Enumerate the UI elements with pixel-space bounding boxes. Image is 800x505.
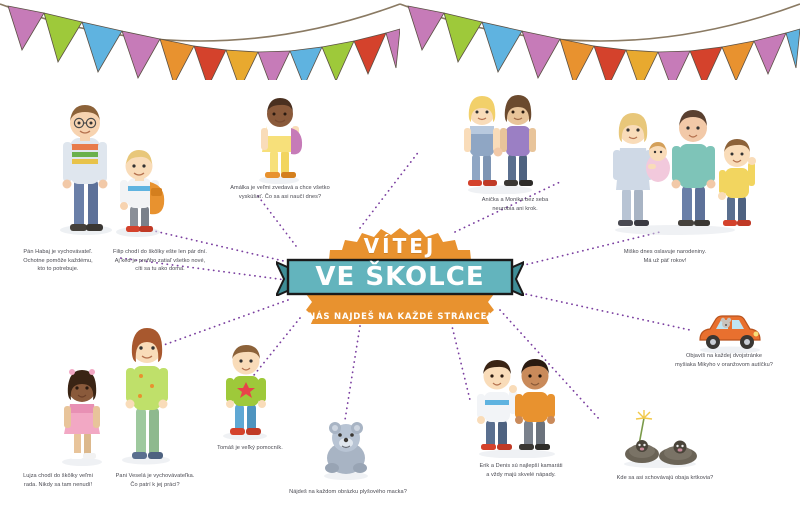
scene-miky-auto xyxy=(690,308,770,354)
caption-line: Aj keď je preňho zatiaľ všetko nové, xyxy=(108,257,212,266)
caption-line: rada. Nikdy sa tam nenudí! xyxy=(10,481,106,490)
caption-pani-vesela: Pani Veselá je vychovávateľka. Čo patrí … xyxy=(103,472,207,489)
bunting-garland-right xyxy=(400,0,800,80)
caption-line: Filip chodí do škôlky ešte len pár dní. xyxy=(108,248,212,257)
book-spread-page: Pán Habaj je vychovávateľ. Ochotne pomôž… xyxy=(0,0,800,505)
caption-line: Anička a Monika bez seba xyxy=(455,196,575,205)
caption-krtkovia: Kde sa asi schovávajú obaja krtkovia? xyxy=(598,474,732,483)
scene-pani-vesela xyxy=(110,308,182,466)
caption-line: Miško dnes oslavuje narodeniny. xyxy=(600,248,730,257)
caption-misko: Miško dnes oslavuje narodeniny. Má už pä… xyxy=(600,248,730,265)
caption-plysovy-macko: Nájdeš na každom obrázku plyšového macka… xyxy=(268,488,428,497)
scene-plysovy-macko xyxy=(315,418,377,480)
caption-line: Tomáš je veľký pomocník. xyxy=(192,444,308,453)
caption-line: vyskúšať. Čo sa asi naučí dnes? xyxy=(210,193,350,202)
badge-tagline: NÁS NAJDEŠ NA KAŽDÉ STRÁNCE! xyxy=(286,312,514,322)
caption-erik-denis: Erik a Denis sú najlepší kamaráti a vždy… xyxy=(452,462,590,479)
scene-erik-denis xyxy=(462,348,572,458)
badge-title-line1: VÍTEJ xyxy=(286,234,514,258)
caption-line: cíti sa tu ako doma. xyxy=(108,265,212,274)
scene-amalka xyxy=(245,92,315,184)
caption-line: Ochotne pomôže každému, xyxy=(6,257,110,266)
caption-line: Amálka je veľmi zvedavá a chce všetko xyxy=(210,184,350,193)
bunting-garland-left xyxy=(0,0,400,80)
scene-tomas xyxy=(212,338,278,440)
caption-anicka-monika: Anička a Monika bez seba neurobia ani kr… xyxy=(455,196,575,213)
scene-lujza xyxy=(52,358,112,466)
caption-line: Erik a Denis sú najlepší kamaráti xyxy=(452,462,590,471)
caption-lujza: Lujza chodí do škôlky veľmi rada. Nikdy … xyxy=(10,472,106,489)
scene-misko-family xyxy=(600,88,760,238)
caption-line: Lujza chodí do škôlky veľmi xyxy=(10,472,106,481)
caption-filip: Filip chodí do škôlky ešte len pár dní. … xyxy=(108,248,212,274)
caption-line: kto to potrebuje. xyxy=(6,265,110,274)
scene-krtkovia xyxy=(612,406,708,468)
caption-tomas: Tomáš je veľký pomocník. xyxy=(192,444,308,453)
caption-pan-habaj: Pán Habaj je vychovávateľ. Ochotne pomôž… xyxy=(6,248,110,274)
caption-line: a vždy majú skvelé nápady. xyxy=(452,471,590,480)
caption-amalka: Amálka je veľmi zvedavá a chce všetko vy… xyxy=(210,184,350,201)
caption-line: Pán Habaj je vychovávateľ. xyxy=(6,248,110,257)
scene-pan-habaj xyxy=(48,88,178,238)
caption-line: Nájdeš na každom obrázku plyšového macka… xyxy=(268,488,428,497)
caption-line: Objavíš na každej dvojstránke xyxy=(650,352,798,361)
caption-miky-auto: Objavíš na každej dvojstránke myšiaka Mi… xyxy=(650,352,798,369)
caption-line: myšiaka Mikyho v oranžovom autíčku? xyxy=(650,361,798,370)
caption-line: Kde sa asi schovávajú obaja krtkovia? xyxy=(598,474,732,483)
caption-line: Pani Veselá je vychovávateľka. xyxy=(103,472,207,481)
scene-anicka-monika xyxy=(450,86,550,194)
welcome-badge: VÍTEJ VE ŠKOLCE NÁS NAJDEŠ NA KAŽDÉ STRÁ… xyxy=(286,228,514,324)
caption-line: Čo patrí k jej práci? xyxy=(103,481,207,490)
badge-title-line2: VE ŠKOLCE xyxy=(286,258,514,296)
caption-line: Má už päť rokov! xyxy=(600,257,730,266)
caption-line: neurobia ani krok. xyxy=(455,205,575,214)
